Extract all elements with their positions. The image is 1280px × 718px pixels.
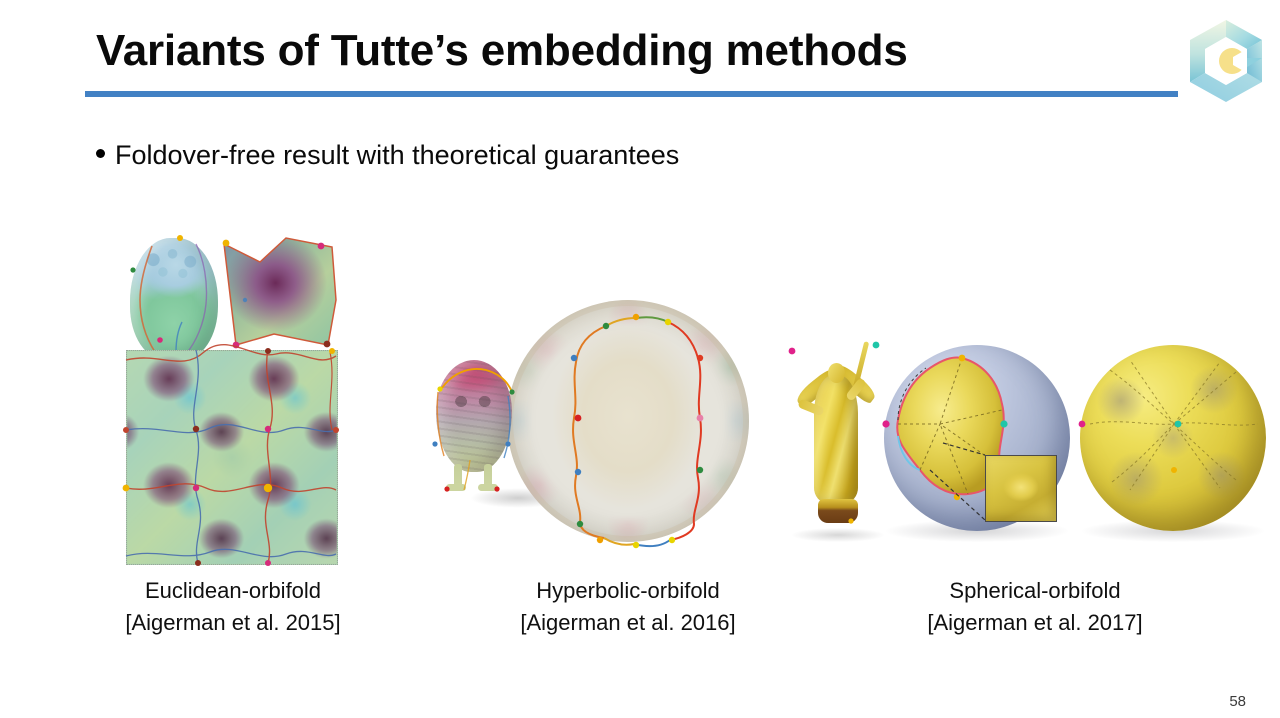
statue-base	[818, 499, 858, 523]
caption-hyperbolic-title: Hyperbolic-orbifold	[443, 575, 813, 607]
caption-spherical-ref: [Aigerman et al. 2017]	[850, 607, 1220, 639]
caption-euclidean: Euclidean-orbifold [Aigerman et al. 2015…	[48, 575, 418, 639]
owl-foot-right	[478, 484, 498, 491]
caption-hyperbolic-ref: [Aigerman et al. 2016]	[443, 607, 813, 639]
euclidean-tiled-plane	[126, 350, 338, 565]
caption-spherical: Spherical-orbifold [Aigerman et al. 2017…	[850, 575, 1220, 639]
caption-euclidean-title: Euclidean-orbifold	[48, 575, 418, 607]
david-head-mesh	[130, 238, 218, 360]
figure-row: Euclidean-orbifold [Aigerman et al. 2015…	[0, 0, 1280, 718]
caption-euclidean-ref: [Aigerman et al. 2015]	[48, 607, 418, 639]
caption-spherical-title: Spherical-orbifold	[850, 575, 1220, 607]
sphere-zoom-inset	[985, 455, 1057, 522]
tiling-texture	[127, 351, 337, 564]
statue-head	[828, 363, 845, 383]
page-number: 58	[1229, 693, 1246, 710]
angel-statue-mesh	[788, 333, 884, 533]
caption-hyperbolic: Hyperbolic-orbifold [Aigerman et al. 201…	[443, 575, 813, 639]
gold-tiled-sphere	[1080, 345, 1266, 531]
owl-body	[436, 360, 512, 472]
poincare-disk	[507, 300, 749, 542]
owl-foot-left	[446, 484, 466, 491]
owl-mesh	[432, 360, 516, 490]
